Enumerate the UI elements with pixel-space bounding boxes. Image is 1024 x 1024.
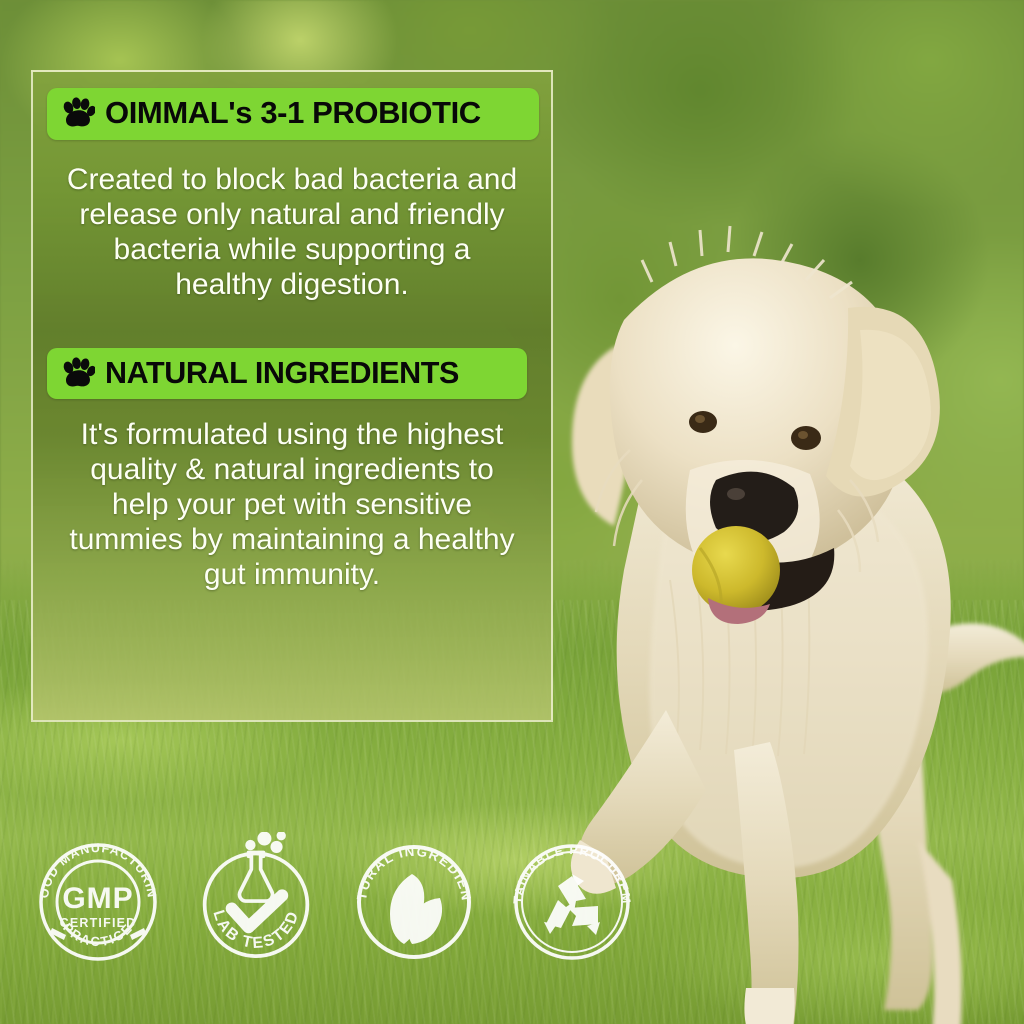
badge-subtext-gmp: CERTIFIED — [60, 916, 137, 930]
badge-center-gmp: GMP — [62, 882, 133, 915]
recycle-icon: SUSTAINABLE PROCUREMENT — [502, 832, 642, 972]
section-heading-natural-ingredients: NATURAL INGREDIENTS — [47, 348, 527, 399]
section-divider-space — [47, 302, 537, 346]
leaves-icon: NATURAL INGREDIENTS — [344, 832, 484, 972]
certification-badge-row: GOOD MANUFACTURING PRACTICE GMP CERTIFIE… — [28, 832, 648, 972]
product-marketing-image: OIMMAL's 3-1 PROBIOTIC Created to block … — [0, 0, 1024, 1024]
product-info-panel: OIMMAL's 3-1 PROBIOTIC Created to block … — [31, 70, 553, 722]
body-text-natural-ingredients: It's formulated using the highest qualit… — [65, 417, 519, 592]
flask-checkmark-icon: LAB TESTED — [186, 832, 326, 972]
badge-lab-tested: LAB TESTED — [186, 832, 326, 972]
badge-natural-ingredients: NATURAL INGREDIENTS — [344, 832, 484, 972]
badge-sustainable-procurement: SUSTAINABLE PROCUREMENT — [502, 832, 642, 972]
paw-icon — [61, 357, 95, 389]
heading-text-probiotic: OIMMAL's 3-1 PROBIOTIC — [105, 97, 481, 130]
heading-text-natural-ingredients: NATURAL INGREDIENTS — [105, 357, 459, 389]
gmp-certified-icon: GOOD MANUFACTURING PRACTICE GMP CERTIFIE… — [28, 832, 168, 972]
paw-icon — [61, 97, 95, 129]
body-text-probiotic: Created to block bad bacteria and releas… — [65, 162, 519, 302]
section-heading-probiotic: OIMMAL's 3-1 PROBIOTIC — [47, 88, 539, 140]
badge-gmp: GOOD MANUFACTURING PRACTICE GMP CERTIFIE… — [28, 832, 168, 972]
